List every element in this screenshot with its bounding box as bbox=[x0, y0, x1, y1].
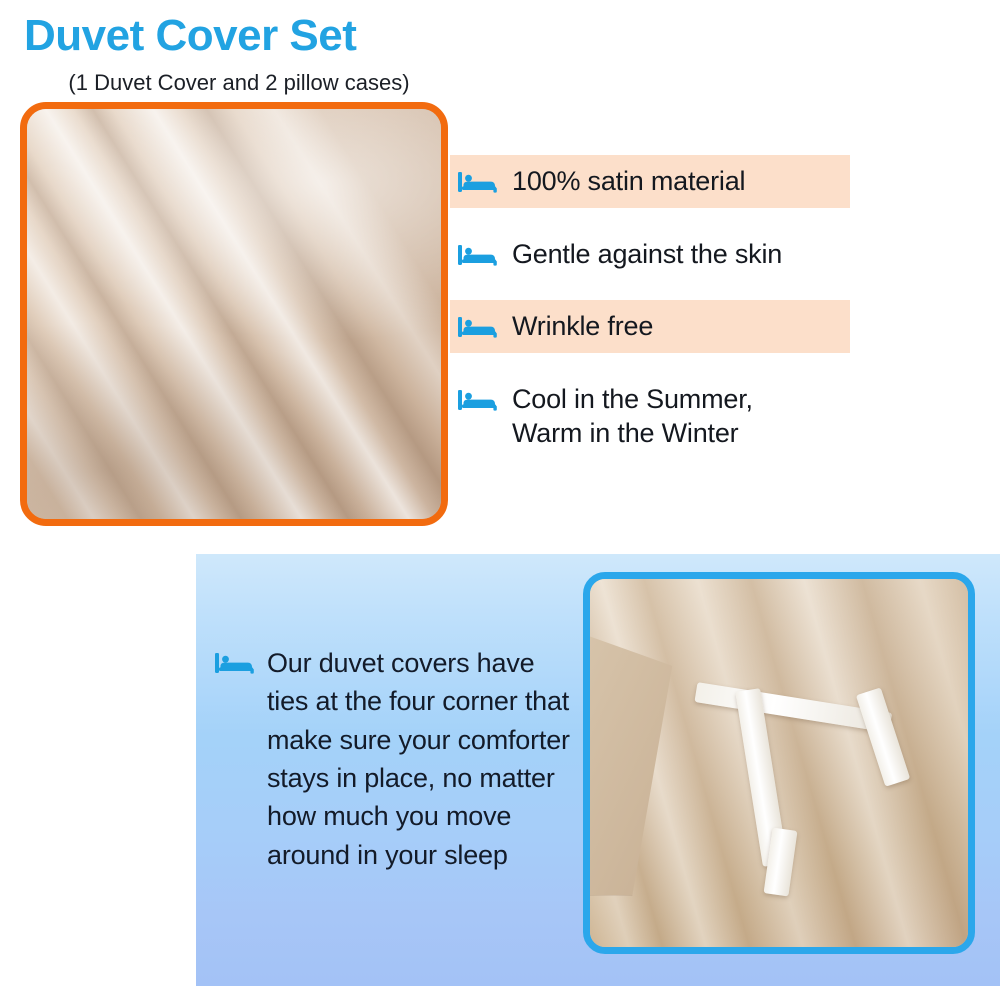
bed-icon bbox=[458, 387, 498, 413]
fabric-sheen-layer bbox=[27, 109, 441, 519]
feature-label: Wrinkle free bbox=[512, 309, 653, 344]
bed-icon bbox=[458, 169, 498, 195]
feature-label-line-2: Warm in the Winter bbox=[512, 416, 753, 451]
feature-label: Gentle against the skin bbox=[512, 237, 782, 272]
feature-list: 100% satin material Gentle against the s… bbox=[450, 155, 850, 460]
feature-row: Gentle against the skin bbox=[450, 228, 850, 281]
bed-icon bbox=[215, 650, 255, 676]
bed-icon bbox=[458, 314, 498, 340]
infographic-page: Duvet Cover Set (1 Duvet Cover and 2 pil… bbox=[0, 0, 1000, 1000]
tie-feature-paragraph: Our duvet covers have ties at the four c… bbox=[267, 644, 575, 874]
feature-row: Wrinkle free bbox=[450, 300, 850, 353]
bed-icon bbox=[458, 242, 498, 268]
feature-label: 100% satin material bbox=[512, 164, 745, 199]
feature-label: Cool in the Summer, Warm in the Winter bbox=[512, 382, 753, 451]
satin-fabric-photo bbox=[20, 102, 448, 526]
page-title: Duvet Cover Set bbox=[24, 12, 454, 60]
page-subtitle: (1 Duvet Cover and 2 pillow cases) bbox=[24, 70, 454, 96]
feature-row: 100% satin material bbox=[450, 155, 850, 208]
duvet-corner-ties-photo bbox=[583, 572, 975, 954]
tie-feature-text-block: Our duvet covers have ties at the four c… bbox=[215, 644, 575, 874]
feature-row: Cool in the Summer, Warm in the Winter bbox=[450, 373, 850, 460]
